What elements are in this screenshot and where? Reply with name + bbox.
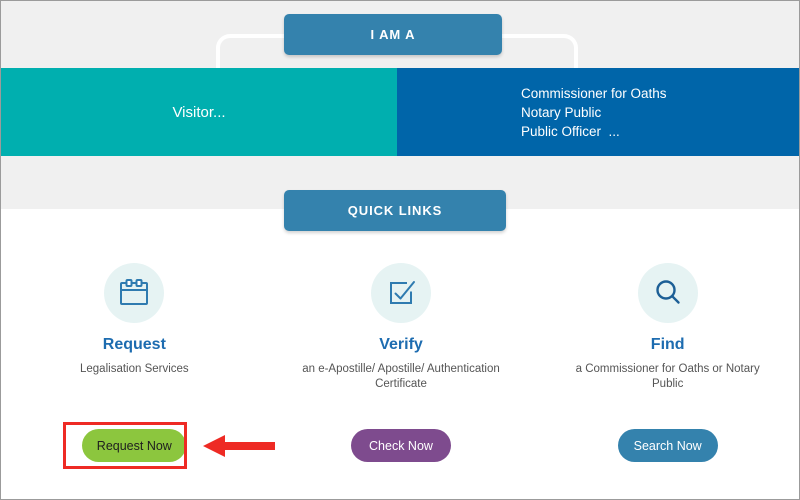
quick-link-verify[interactable]: Verify an e-Apostille/ Apostille/ Authen… [268, 263, 535, 392]
quick-links-row: Request Legalisation Services Verify an … [1, 263, 800, 392]
check-now-button[interactable]: Check Now [351, 429, 451, 462]
tab-i-am-a[interactable]: I AM A [284, 14, 502, 55]
officer-line-3: Public Officer ... [521, 122, 667, 141]
button-cell-find: Search Now [534, 429, 800, 462]
button-cell-request: Request Now [1, 429, 268, 462]
calendar-icon [104, 263, 164, 323]
quick-link-title: Find [651, 336, 685, 354]
quick-link-title: Verify [379, 336, 423, 354]
panel-visitor-label: Visitor... [172, 104, 225, 121]
button-cell-verify: Check Now [268, 429, 535, 462]
role-panels: Visitor... Commissioner for Oaths Notary… [1, 68, 800, 156]
search-now-button[interactable]: Search Now [618, 429, 718, 462]
request-now-button[interactable]: Request Now [82, 429, 186, 462]
quick-link-find[interactable]: Find a Commissioner for Oaths or Notary … [534, 263, 800, 392]
panel-visitor[interactable]: Visitor... [1, 68, 397, 156]
tab-quick-links[interactable]: QUICK LINKS [284, 190, 506, 231]
panel-officer-labels: Commissioner for Oaths Notary Public Pub… [521, 84, 667, 141]
action-buttons-row: Request Now Check Now Search Now [1, 429, 800, 462]
quick-link-title: Request [103, 336, 166, 354]
quick-link-request[interactable]: Request Legalisation Services [1, 263, 268, 392]
magnifier-icon [638, 263, 698, 323]
connector-line-right [498, 34, 578, 72]
page-root: I AM A Visitor... Commissioner for Oaths… [0, 0, 800, 500]
quick-link-description: an e-Apostille/ Apostille/ Authenticatio… [299, 362, 504, 392]
officer-line-1: Commissioner for Oaths [521, 84, 667, 103]
panel-officer[interactable]: Commissioner for Oaths Notary Public Pub… [397, 68, 800, 156]
quick-link-description: a Commissioner for Oaths or Notary Publi… [565, 362, 770, 392]
quick-link-description: Legalisation Services [80, 362, 189, 377]
officer-line-2: Notary Public [521, 103, 667, 122]
checkbox-check-icon [371, 263, 431, 323]
